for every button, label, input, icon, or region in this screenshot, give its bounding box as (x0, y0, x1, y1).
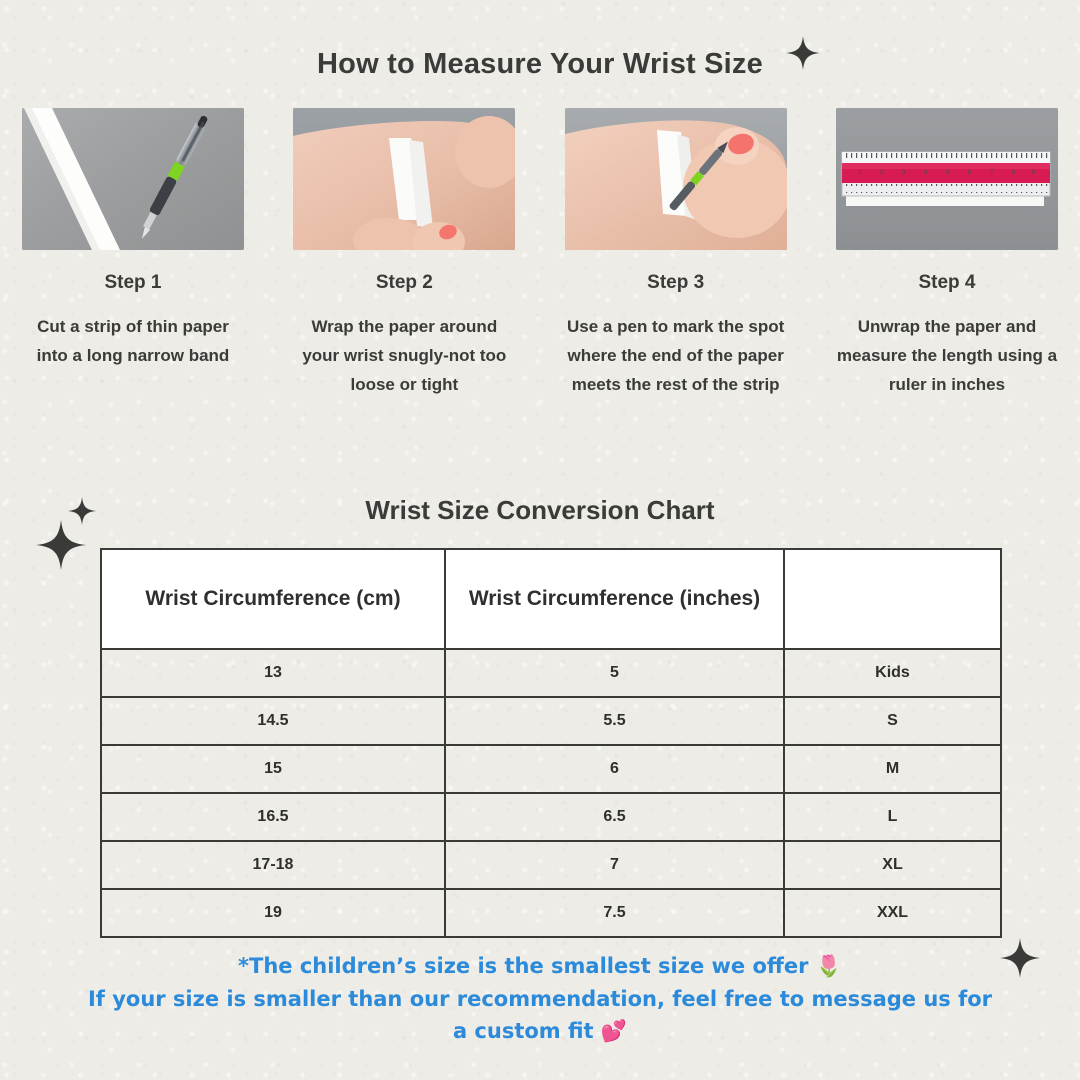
step-1-label: Step 1 (22, 272, 244, 294)
table-row: 14.5 5.5 S (101, 697, 1001, 745)
step-1-description: Cut a strip of thin paper into a long na… (22, 312, 244, 370)
cell-inches: 6.5 (445, 793, 784, 841)
cell-size: Kids (784, 649, 1001, 697)
step-1-photo (22, 108, 244, 250)
steps-row: Step 1 Cut a strip of thin paper into a … (0, 108, 1080, 400)
cell-inches: 5 (445, 649, 784, 697)
sparkle-left-large-icon (36, 520, 86, 570)
table-row: 17-18 7 XL (101, 841, 1001, 889)
step-4-label: Step 4 (836, 272, 1058, 294)
cell-cm: 13 (101, 649, 445, 697)
cell-size: L (784, 793, 1001, 841)
page-title: How to Measure Your Wrist Size (0, 48, 1080, 81)
cell-inches: 5.5 (445, 697, 784, 745)
cell-cm: 16.5 (101, 793, 445, 841)
table-header-row: Wrist Circumference (cm) Wrist Circumfer… (101, 549, 1001, 649)
sparkle-left-small-icon (68, 497, 96, 525)
step-4-photo: 123 456 789 (836, 108, 1058, 250)
step-card-4: 123 456 789 Step 4 Unwrap the paper and … (836, 108, 1058, 400)
column-header-inches: Wrist Circumference (inches) (445, 549, 784, 649)
cell-inches: 6 (445, 745, 784, 793)
cell-size: M (784, 745, 1001, 793)
table-row: 13 5 Kids (101, 649, 1001, 697)
table-row: 15 6 M (101, 745, 1001, 793)
step-card-3: Step 3 Use a pen to mark the spot where … (565, 108, 787, 400)
footer-line-2: If your size is smaller than our recomme… (60, 983, 1020, 1016)
step-3-label: Step 3 (565, 272, 787, 294)
cell-cm: 19 (101, 889, 445, 937)
cell-cm: 15 (101, 745, 445, 793)
cell-inches: 7.5 (445, 889, 784, 937)
step-2-label: Step 2 (293, 272, 515, 294)
footer-note: *The children’s size is the smallest siz… (60, 950, 1020, 1048)
step-3-photo (565, 108, 787, 250)
cell-size: XXL (784, 889, 1001, 937)
table-row: 16.5 6.5 L (101, 793, 1001, 841)
column-header-cm: Wrist Circumference (cm) (101, 549, 445, 649)
cell-size: S (784, 697, 1001, 745)
step-2-photo (293, 108, 515, 250)
chart-title: Wrist Size Conversion Chart (0, 495, 1080, 526)
footer-line-1: *The children’s size is the smallest siz… (60, 950, 1020, 983)
step-card-2: Step 2 Wrap the paper around your wrist … (293, 108, 515, 400)
cell-inches: 7 (445, 841, 784, 889)
step-3-description: Use a pen to mark the spot where the end… (565, 312, 787, 400)
cell-cm: 14.5 (101, 697, 445, 745)
step-4-description: Unwrap the paper and measure the length … (836, 312, 1058, 400)
wrist-size-conversion-table: Wrist Circumference (cm) Wrist Circumfer… (100, 548, 1002, 938)
step-card-1: Step 1 Cut a strip of thin paper into a … (22, 108, 244, 400)
table-row: 19 7.5 XXL (101, 889, 1001, 937)
step-2-description: Wrap the paper around your wrist snugly-… (293, 312, 515, 400)
sparkle-top-right-icon (786, 36, 820, 70)
footer-line-3: a custom fit 💕 (60, 1015, 1020, 1048)
column-header-size (784, 549, 1001, 649)
cell-cm: 17-18 (101, 841, 445, 889)
cell-size: XL (784, 841, 1001, 889)
